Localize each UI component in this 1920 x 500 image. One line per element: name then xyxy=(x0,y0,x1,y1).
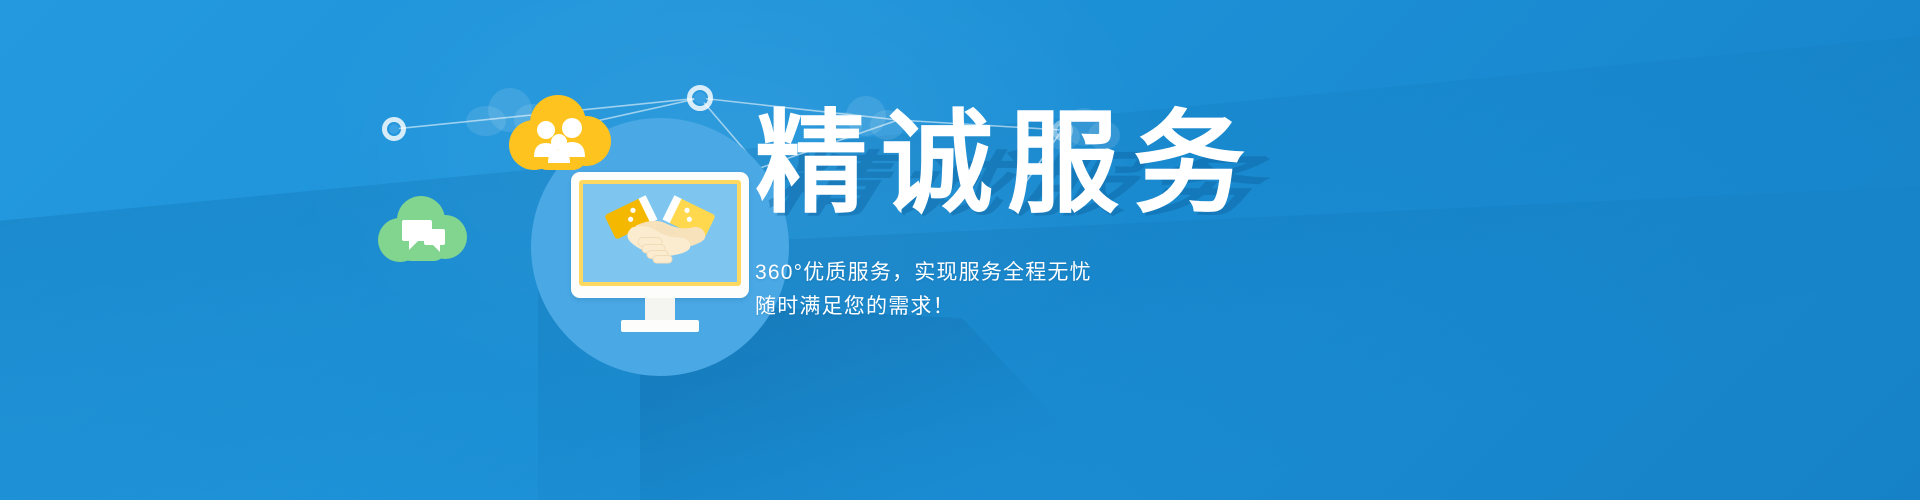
page-title: 精诚服务 xyxy=(755,108,1535,220)
monitor-screen xyxy=(579,180,741,286)
handshake-icon xyxy=(602,194,718,273)
service-banner: 精诚服务 精诚服务 360°优质服务，实现服务全程无忧 随时满足您的需求！ xyxy=(0,0,1920,500)
cloud-chat xyxy=(376,196,468,262)
subtitle-line-1: 360°优质服务，实现服务全程无忧 xyxy=(755,256,1535,290)
banner-copy: 精诚服务 360°优质服务，实现服务全程无忧 随时满足您的需求！ xyxy=(755,108,1535,324)
cloud-people xyxy=(506,95,612,171)
monitor-base xyxy=(621,320,699,332)
network-node-top xyxy=(687,85,713,111)
subtitle-line-2: 随时满足您的需求！ xyxy=(755,290,1535,324)
network-node-left xyxy=(382,117,406,141)
desktop-monitor xyxy=(571,172,749,298)
